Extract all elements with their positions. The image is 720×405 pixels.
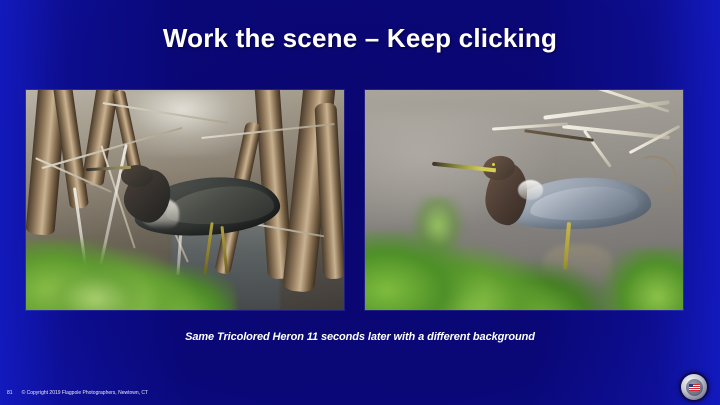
foreground-foliage-icon [32,266,159,310]
foreground-foliage-icon [365,231,632,310]
slide-number: 81 [7,389,13,397]
page-title: Work the scene – Keep clicking [0,22,720,54]
foreground-foliage-icon [594,248,683,310]
copyright-notice: © Copyright 2019 Flagpole Photographers,… [22,389,149,397]
photo-caption: Same Tricolored Heron 11 seconds later w… [0,330,720,344]
flagpole-photographers-logo [681,374,707,400]
photo-left-content [26,90,344,310]
slide-footer: 81 © Copyright 2019 Flagpole Photographe… [7,389,148,397]
photo-tricolored-heron-against-open-water[interactable] [365,90,683,310]
presentation-slide: Work the scene – Keep clicking [0,0,720,405]
logo-inner-disc [686,379,703,396]
heron-eye-icon [492,163,495,166]
photo-tricolored-heron-in-mangrove-roots[interactable] [26,90,344,310]
heron-throat-patch-icon [518,180,543,200]
photo-row [26,90,683,310]
photo-right-content [365,90,683,310]
american-flag-icon [689,384,700,391]
